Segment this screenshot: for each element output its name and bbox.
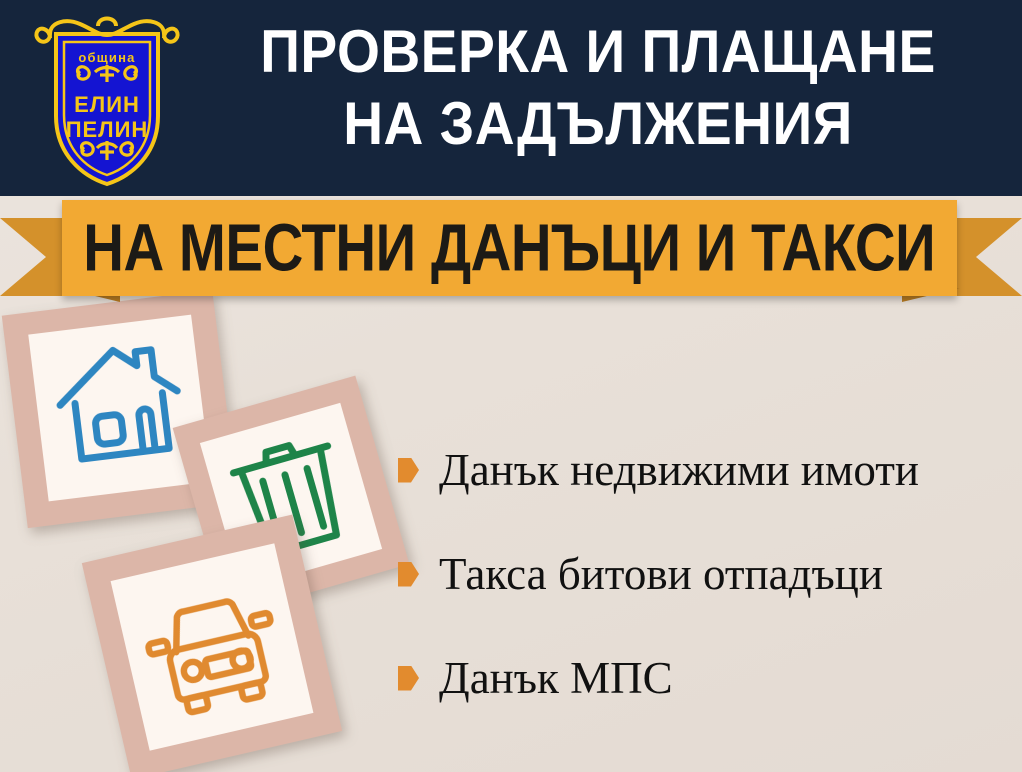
list-item[interactable]: Данък МПС — [398, 626, 1022, 730]
svg-text:ПЕЛИН: ПЕЛИН — [66, 117, 149, 142]
svg-text:ЕЛИН: ЕЛИН — [74, 92, 140, 117]
ribbon-band: НА МЕСТНИ ДАНЪЦИ И ТАКСИ — [62, 200, 957, 296]
list-item[interactable]: Данък недвижими имоти — [398, 418, 1022, 522]
arrow-bullet-icon — [398, 666, 419, 691]
arrow-bullet-icon — [398, 458, 419, 483]
list-item-label: Данък недвижими имоти — [439, 444, 919, 496]
arrow-bullet-icon — [398, 562, 419, 587]
coat-of-arms-icon: община ЕЛИН ПЕЛИН — [28, 8, 186, 190]
page-title: ПРОВЕРКА И ПЛАЩАНЕ НА ЗАДЪЛЖЕНИЯ — [190, 16, 1006, 160]
svg-text:община: община — [78, 50, 135, 65]
title-line-1: ПРОВЕРКА И ПЛАЩАНЕ — [223, 16, 974, 88]
tax-types-list: Данък недвижими имоти Такса битови отпад… — [398, 418, 1022, 730]
list-item[interactable]: Такса битови отпадъци — [398, 522, 1022, 626]
header-bar: община ЕЛИН ПЕЛИН — [0, 0, 1022, 196]
list-item-label: Данък МПС — [439, 652, 673, 704]
ribbon-label: НА МЕСТНИ ДАНЪЦИ И ТАКСИ — [83, 214, 935, 281]
list-item-label: Такса битови отпадъци — [439, 548, 883, 600]
title-line-2: НА ЗАДЪЛЖЕНИЯ — [223, 88, 974, 160]
poster-root: община ЕЛИН ПЕЛИН — [0, 0, 1022, 772]
stamp-cards-group — [0, 296, 420, 772]
ribbon-banner: НА МЕСТНИ ДАНЪЦИ И ТАКСИ — [0, 200, 1022, 302]
